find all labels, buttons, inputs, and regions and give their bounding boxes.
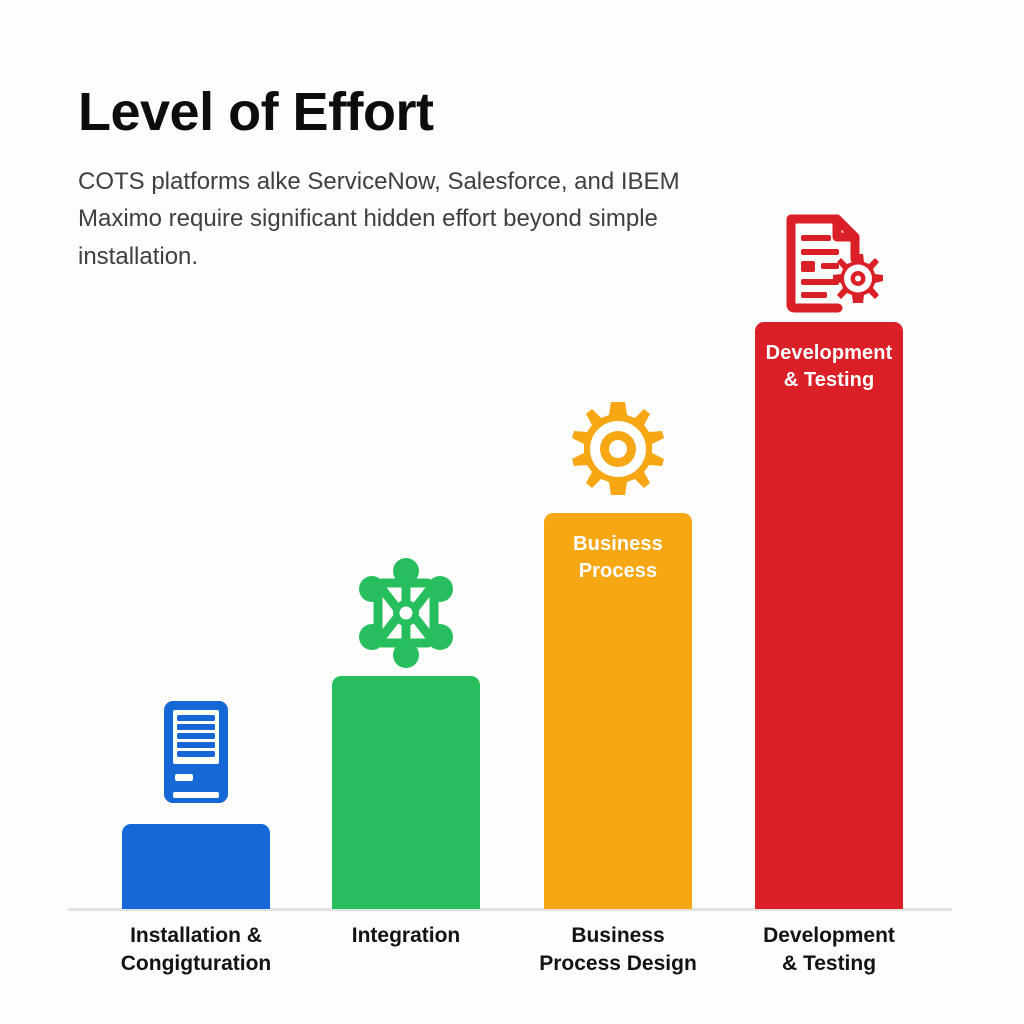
axis-label-line-1: Business [508, 922, 728, 950]
axis-label-line-1: Installation & [86, 922, 306, 950]
axis-label-development-testing: Development & Testing [719, 922, 939, 978]
bar-chart: Installation & Congigturation [0, 0, 1024, 1024]
bar-inline-label-line-1: Business [544, 531, 692, 558]
document-gear-icon [755, 205, 903, 317]
bar-business-process[interactable]: Business Process [544, 513, 692, 909]
bar-inline-label-line-1: Development [755, 340, 903, 367]
axis-label-integration: Integration [296, 922, 516, 950]
infographic-canvas: Level of Effort COTS platforms alke Serv… [0, 0, 1024, 1024]
axis-label-line-1: Integration [296, 922, 516, 950]
axis-label-line-2: & Testing [719, 950, 939, 978]
axis-label-line-1: Development [719, 922, 939, 950]
bar-installation[interactable] [122, 824, 270, 909]
bar-development-testing[interactable]: Development & Testing [755, 322, 903, 909]
gear-icon [544, 394, 692, 506]
axis-label-line-2: Congigturation [86, 950, 306, 978]
bar-inline-label-business-process: Business Process [544, 531, 692, 585]
bar-inline-label-development-testing: Development & Testing [755, 340, 903, 394]
server-icon [122, 697, 270, 817]
bar-inline-label-line-2: & Testing [755, 367, 903, 394]
axis-label-installation: Installation & Congigturation [86, 922, 306, 978]
axis-label-business-process: Business Process Design [508, 922, 728, 978]
bar-inline-label-line-2: Process [544, 558, 692, 585]
axis-label-line-2: Process Design [508, 950, 728, 978]
bar-integration[interactable] [332, 676, 480, 909]
network-nodes-icon [332, 557, 480, 669]
